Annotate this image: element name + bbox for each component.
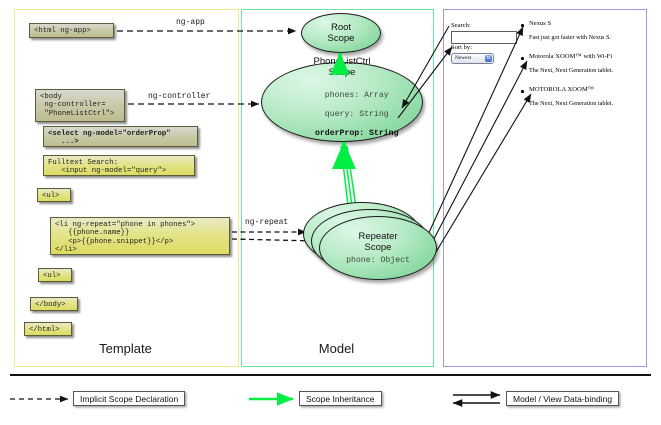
phone-snippet: Fast just got faster with Nexus S.: [529, 34, 611, 41]
list-bullet: [521, 24, 524, 27]
input-search-box: Fulltext Search: <input ng-model="query"…: [43, 155, 195, 176]
phone-name: Motorola XOOM™ with Wi-Fi: [529, 53, 612, 60]
edge-label-ng-app: ng-app: [176, 18, 205, 27]
phonelist-scope-title-line2: Scope: [329, 67, 356, 78]
body-tag-box: <body ng-controller= "PhoneListCtrl">: [35, 89, 125, 122]
view-sort-label: Sort by:: [451, 44, 472, 51]
root-scope-title-line1: Root: [331, 22, 351, 33]
view-search-label: Search:: [451, 22, 471, 29]
diagram-canvas: Template Model View <html ng-app> <body …: [0, 0, 661, 425]
legend-data-binding: Model / View Data-binding: [506, 391, 619, 406]
view-sort-selected-value: Newest: [455, 55, 471, 61]
legend-implicit-scope: Implicit Scope Declaration: [73, 391, 185, 406]
html-close-box: </html>: [24, 322, 72, 336]
phonelist-prop-phones: phones: Array: [325, 91, 389, 100]
root-scope-title-line2: Scope: [328, 33, 355, 44]
li-ngrepeat-box: <li ng-repeat="phone in phones"> {{phone…: [50, 217, 230, 255]
phone-snippet: The Next, Next Generation tablet.: [529, 100, 613, 107]
repeater-scope-ellipse: Repeater Scope phone: Object: [319, 216, 437, 280]
panel-label-template: Template: [14, 341, 237, 356]
edge-label-ng-repeat: ng-repeat: [245, 218, 288, 227]
select-tag-box: <select ng-model="orderProp" ...>: [43, 126, 198, 147]
list-bullet: [521, 90, 524, 93]
chevron-updown-icon[interactable]: ⇅: [485, 55, 492, 62]
repeater-scope-title-line2: Scope: [365, 242, 392, 253]
phone-snippet: The Next, Next Generation tablet.: [529, 67, 613, 74]
list-bullet: [521, 57, 524, 60]
root-scope-ellipse: Root Scope: [301, 13, 381, 53]
phonelist-scope-title-line1: PhoneListCtrl: [313, 56, 370, 67]
repeater-scope-title-line1: Repeater: [358, 231, 397, 242]
html-tag-box: <html ng-app>: [29, 23, 114, 38]
phonelist-prop-query: query: String: [325, 110, 389, 119]
legend-scope-inherit: Scope Inheritance: [299, 391, 382, 406]
ul-open-box: <ul>: [37, 188, 71, 202]
edge-label-ng-controller: ng-controller: [148, 92, 210, 101]
view-sort-select[interactable]: Newest ⇅: [451, 53, 494, 64]
phone-name: Nexus S: [529, 20, 551, 27]
repeater-scope-props: phone: Object: [346, 256, 410, 266]
phonelist-prop-orderprop: orderProp: String: [315, 129, 399, 138]
panel-label-model: Model: [241, 341, 432, 356]
view-search-input[interactable]: [451, 31, 517, 44]
phonelistctrl-scope-ellipse: PhoneListCtrl Scope phones: Array query:…: [261, 62, 423, 142]
legend-divider: [10, 374, 651, 376]
body-close-box: </body>: [30, 297, 78, 311]
legend: Implicit Scope Declaration Scope Inherit…: [0, 381, 661, 425]
phone-name: MOTOROLA XOOM™: [529, 86, 594, 93]
ul-close-box: <ul>: [38, 268, 72, 282]
phonelist-scope-props: phones: Array query: String orderProp: S…: [285, 81, 398, 148]
view-browser-mock: Search: Sort by: Newest ⇅ Nexus S Fast j…: [449, 14, 639, 359]
